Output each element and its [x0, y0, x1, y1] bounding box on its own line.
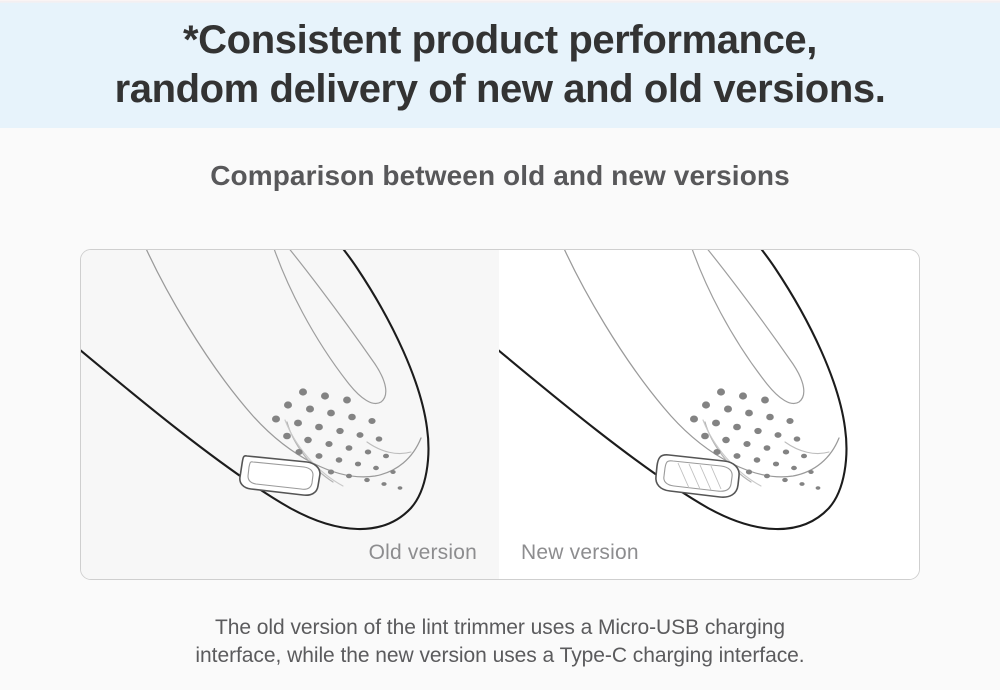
version-comparison-card: Old version	[80, 249, 920, 580]
micro-usb-port-icon	[240, 456, 320, 495]
lint-trimmer-outline-icon	[499, 250, 920, 546]
header-headline-line-1: *Consistent product performance,	[183, 16, 817, 65]
header-headline-line-2: random delivery of new and old versions.	[115, 65, 886, 114]
page-root: *Consistent product performance, random …	[0, 0, 1000, 690]
lint-trimmer-outline-icon	[81, 250, 499, 546]
comparison-caption: The old version of the lint trimmer uses…	[0, 614, 1000, 670]
panel-new-version: New version	[499, 250, 920, 579]
panel-old-version: Old version	[81, 250, 499, 579]
header-banner: *Consistent product performance, random …	[0, 3, 1000, 128]
type-c-port-icon	[656, 455, 739, 497]
caption-line-1: The old version of the lint trimmer uses…	[0, 614, 1000, 642]
panel-label-old-version: Old version	[369, 541, 477, 565]
section-subtitle: Comparison between old and new versions	[0, 160, 1000, 192]
panel-label-new-version: New version	[521, 541, 639, 565]
new-version-device-illustration	[499, 250, 920, 579]
old-version-device-illustration	[81, 250, 499, 579]
caption-line-2: interface, while the new version uses a …	[0, 642, 1000, 670]
